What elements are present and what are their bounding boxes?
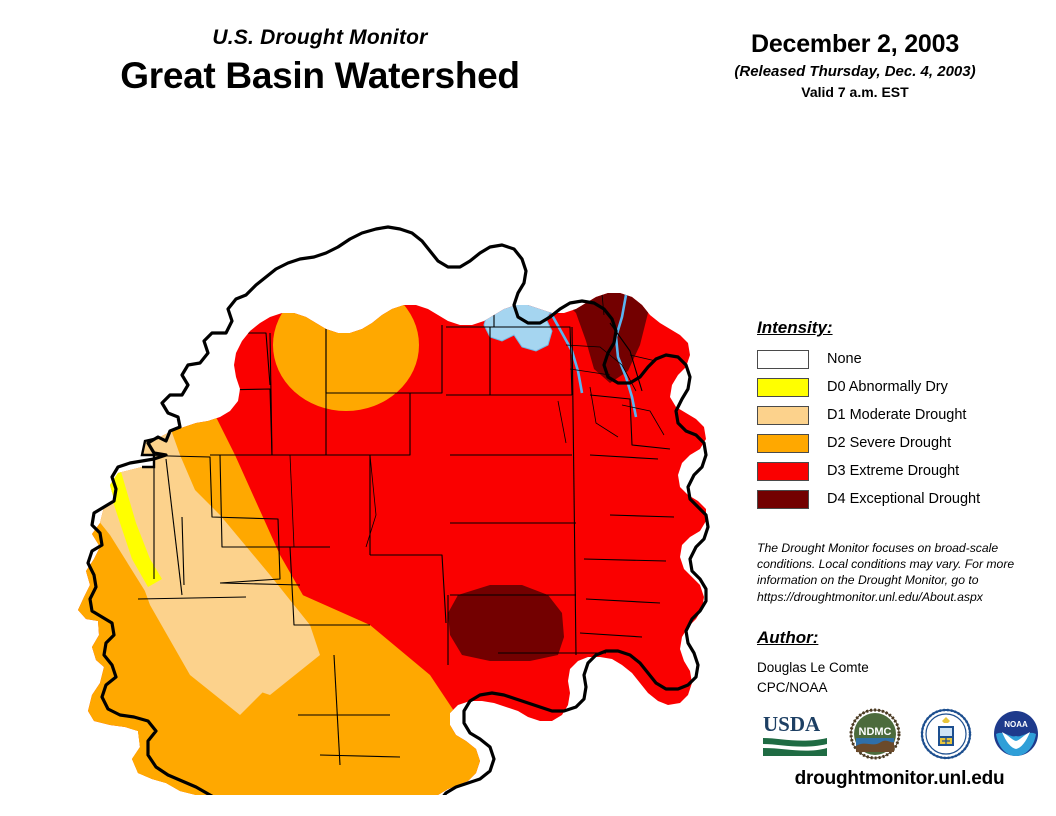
valid-date: December 2, 2003 [690,30,1020,59]
disclaimer-line-2: conditions. Local conditions may vary. F… [757,556,1025,572]
footer-url[interactable]: droughtmonitor.unl.edu [757,768,1042,790]
author-name: Douglas Le Comte [757,660,1037,675]
legend-swatch-d1 [757,406,809,425]
region-d0-abnormally-dry-n [94,429,108,451]
valid-time: Valid 7 a.m. EST [690,84,1020,100]
legend-label-d0: D0 Abnormally Dry [827,379,948,395]
legend-title: Intensity: [757,318,1047,338]
ndmc-logo[interactable]: NDMC [847,708,903,760]
legend-swatch-none [757,350,809,369]
author-heading: Author: [757,628,1037,648]
author-block: Author: Douglas Le Comte CPC/NOAA [757,628,1037,695]
legend-label-d2: D2 Severe Drought [827,435,951,451]
legend-label-d3: D3 Extreme Drought [827,463,959,479]
legend-label-none: None [827,351,862,367]
svg-text:NDMC: NDMC [858,726,891,738]
legend-item-d4[interactable]: D4 Exceptional Drought [757,486,1047,512]
drought-map[interactable] [70,155,710,795]
svg-text:USDA: USDA [763,712,821,736]
page-title: Great Basin Watershed [0,55,640,97]
title-block: U.S. Drought Monitor Great Basin Watersh… [0,26,640,97]
legend-item-none[interactable]: None [757,346,1047,372]
region-none [70,425,98,457]
agency-logos: USDA NDMC NOAA [757,705,1042,763]
legend-item-d0[interactable]: D0 Abnormally Dry [757,374,1047,400]
disclaimer-line-3: information on the Drought Monitor, go t… [757,572,1025,588]
disclaimer-line-1: The Drought Monitor focuses on broad-sca… [757,540,1025,556]
noaa-logo[interactable]: NOAA [990,708,1042,760]
drought-monitor-subtitle: U.S. Drought Monitor [0,26,640,50]
legend-label-d1: D1 Moderate Drought [827,407,966,423]
region-d2-severe-blob [273,279,419,411]
region-d4-exceptional-nw [182,225,220,261]
region-d4-exceptional-se [448,585,564,661]
legend-swatch-d3 [757,462,809,481]
legend-swatch-d2 [757,434,809,453]
legend-swatch-d4 [757,490,809,509]
release-date: (Released Thursday, Dec. 4, 2003) [690,63,1020,80]
intensity-legend: Intensity: None D0 Abnormally Dry D1 Mod… [757,318,1047,514]
legend-item-d2[interactable]: D2 Severe Drought [757,430,1047,456]
legend-swatch-d0 [757,378,809,397]
legend-item-d1[interactable]: D1 Moderate Drought [757,402,1047,428]
map-svg[interactable] [70,155,710,795]
commerce-seal[interactable] [918,708,974,760]
author-affiliation: CPC/NOAA [757,680,1037,695]
svg-text:NOAA: NOAA [1004,720,1028,729]
region-d2-severe-ne-nub [634,197,662,227]
usda-logo[interactable]: USDA [757,708,831,760]
drought-regions [70,155,710,795]
date-block: December 2, 2003 (Released Thursday, Dec… [690,30,1020,100]
legend-item-d3[interactable]: D3 Extreme Drought [757,458,1047,484]
disclaimer-text: The Drought Monitor focuses on broad-sca… [757,540,1025,605]
disclaimer-about-link[interactable]: https://droughtmonitor.unl.edu/About.asp… [757,589,1025,605]
legend-label-d4: D4 Exceptional Drought [827,491,980,507]
